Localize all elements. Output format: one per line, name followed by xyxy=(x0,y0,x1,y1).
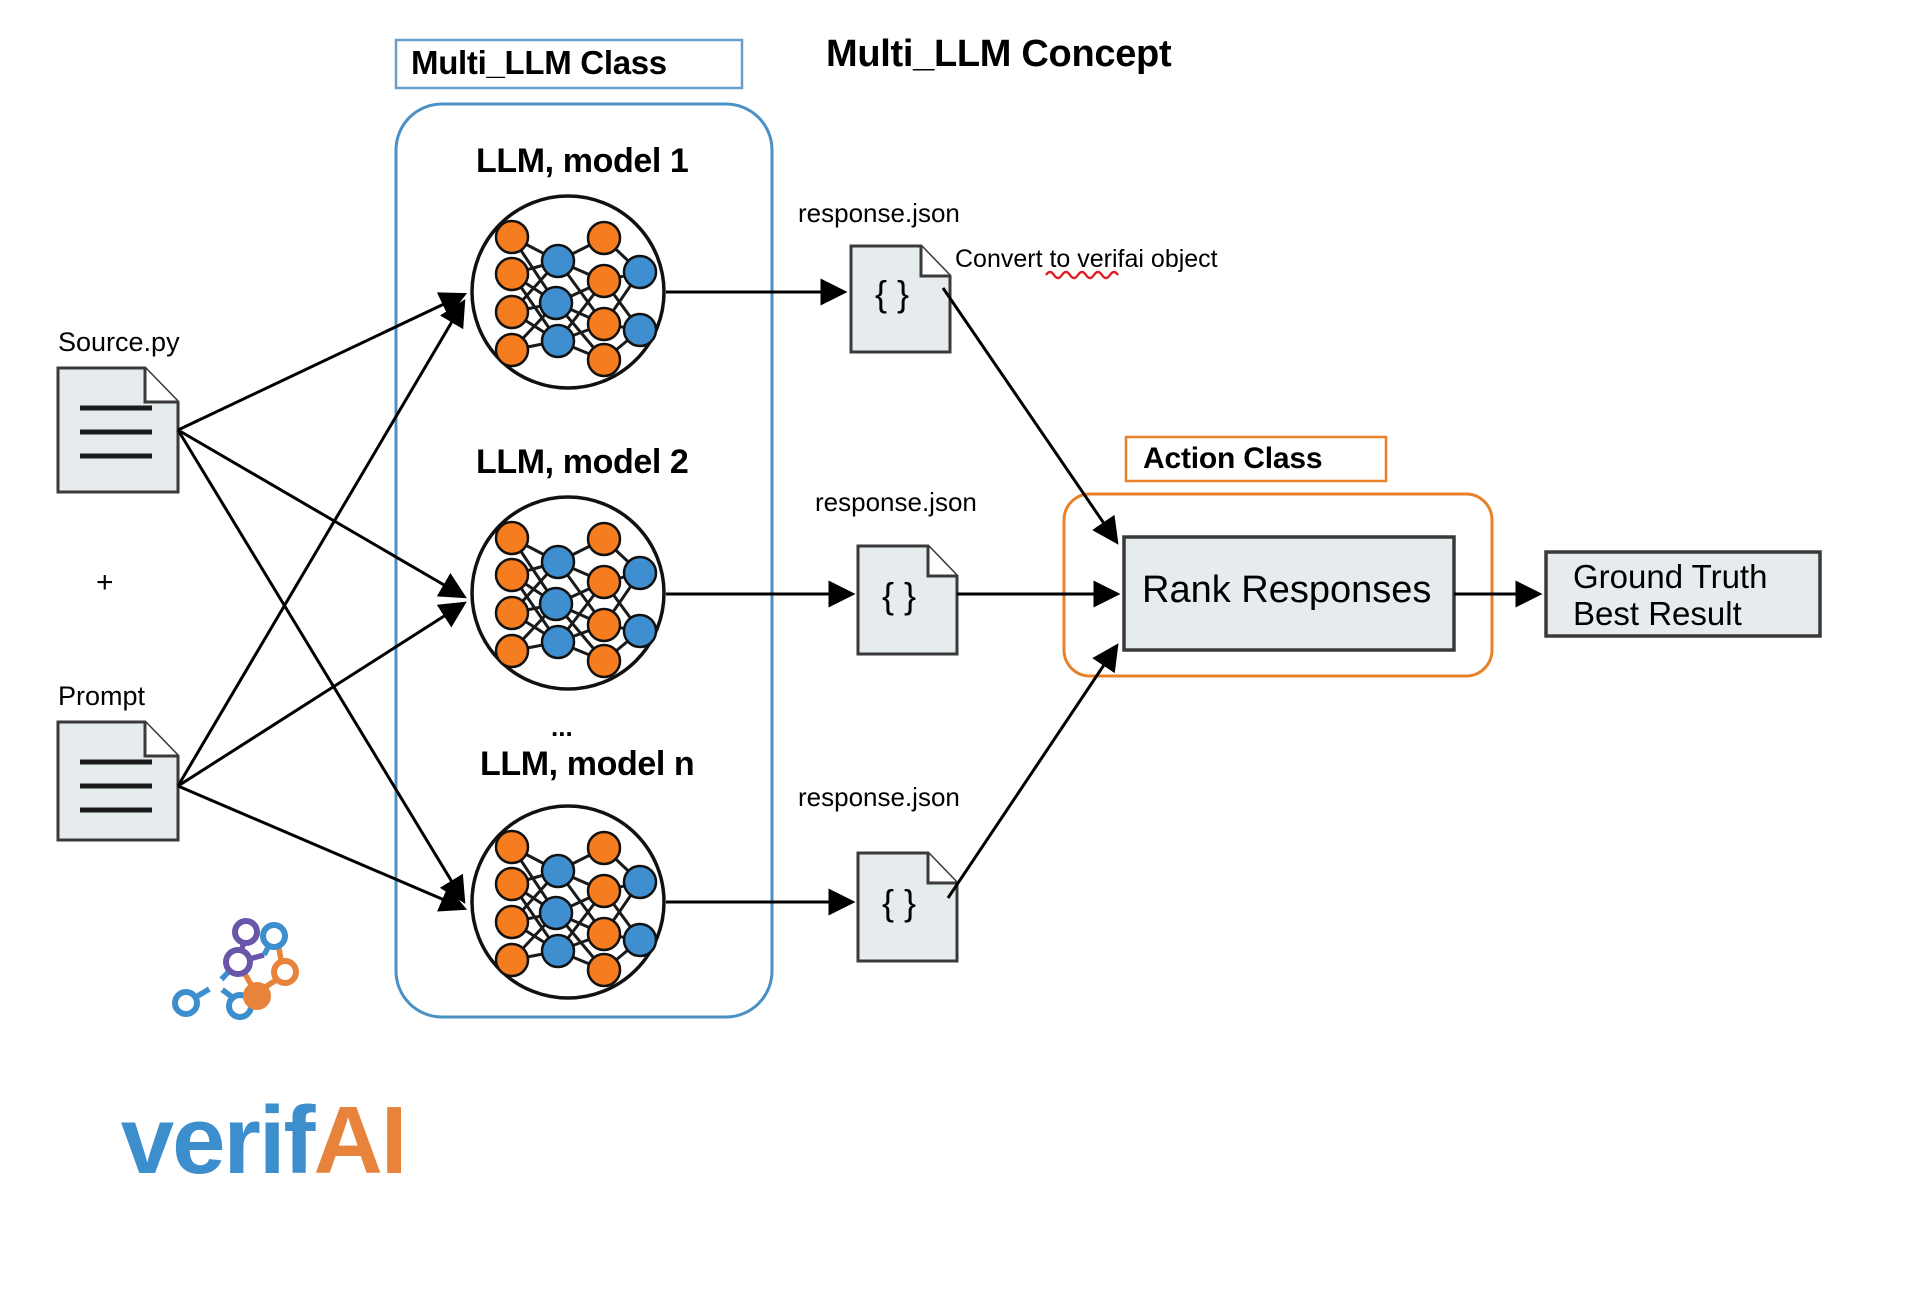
page-title: Multi_LLM Concept xyxy=(826,33,1171,76)
logo-text: verifAI xyxy=(22,976,405,1306)
response-label-1: response.json xyxy=(798,198,960,229)
diagram-graphics xyxy=(0,0,1924,1084)
response-body-1: { } xyxy=(875,273,909,315)
logo-text-primary: verif xyxy=(121,1087,314,1194)
convert-annotation: Convert to verifai object xyxy=(955,245,1218,274)
ground-truth-label-line1: Ground Truth xyxy=(1573,558,1767,596)
models-ellipsis: ... xyxy=(551,712,573,743)
source-py-document-icon xyxy=(58,368,178,492)
rank-responses-label: Rank Responses xyxy=(1142,569,1431,612)
ground-truth-label-line2: Best Result xyxy=(1573,595,1742,633)
response-label-2: response.json xyxy=(815,487,977,518)
input-to-model-arrows xyxy=(178,295,463,908)
response-to-rank-arrows xyxy=(943,288,1116,898)
input-label-source-py: Source.py xyxy=(58,327,180,358)
multi-llm-class-label: Multi_LLM Class xyxy=(411,44,667,82)
action-class-label: Action Class xyxy=(1143,442,1322,476)
prompt-document-icon xyxy=(58,722,178,840)
neural-network-icon-model-1 xyxy=(472,196,664,388)
model-label-2: LLM, model 2 xyxy=(476,443,688,482)
input-label-prompt: Prompt xyxy=(58,681,145,712)
neural-network-icon-model-2 xyxy=(472,497,664,689)
response-label-3: response.json xyxy=(798,782,960,813)
logo-text-accent: AI xyxy=(313,1087,405,1194)
neural-network-icon-model-n xyxy=(472,806,664,998)
response-body-2: { } xyxy=(882,575,916,617)
response-body-3: { } xyxy=(882,882,916,924)
model-label-1: LLM, model 1 xyxy=(476,142,688,181)
diagram-canvas: Multi_LLM Class Multi_LLM Concept Action… xyxy=(0,0,1924,1084)
plus-symbol: + xyxy=(96,566,114,600)
model-label-n: LLM, model n xyxy=(480,745,694,784)
